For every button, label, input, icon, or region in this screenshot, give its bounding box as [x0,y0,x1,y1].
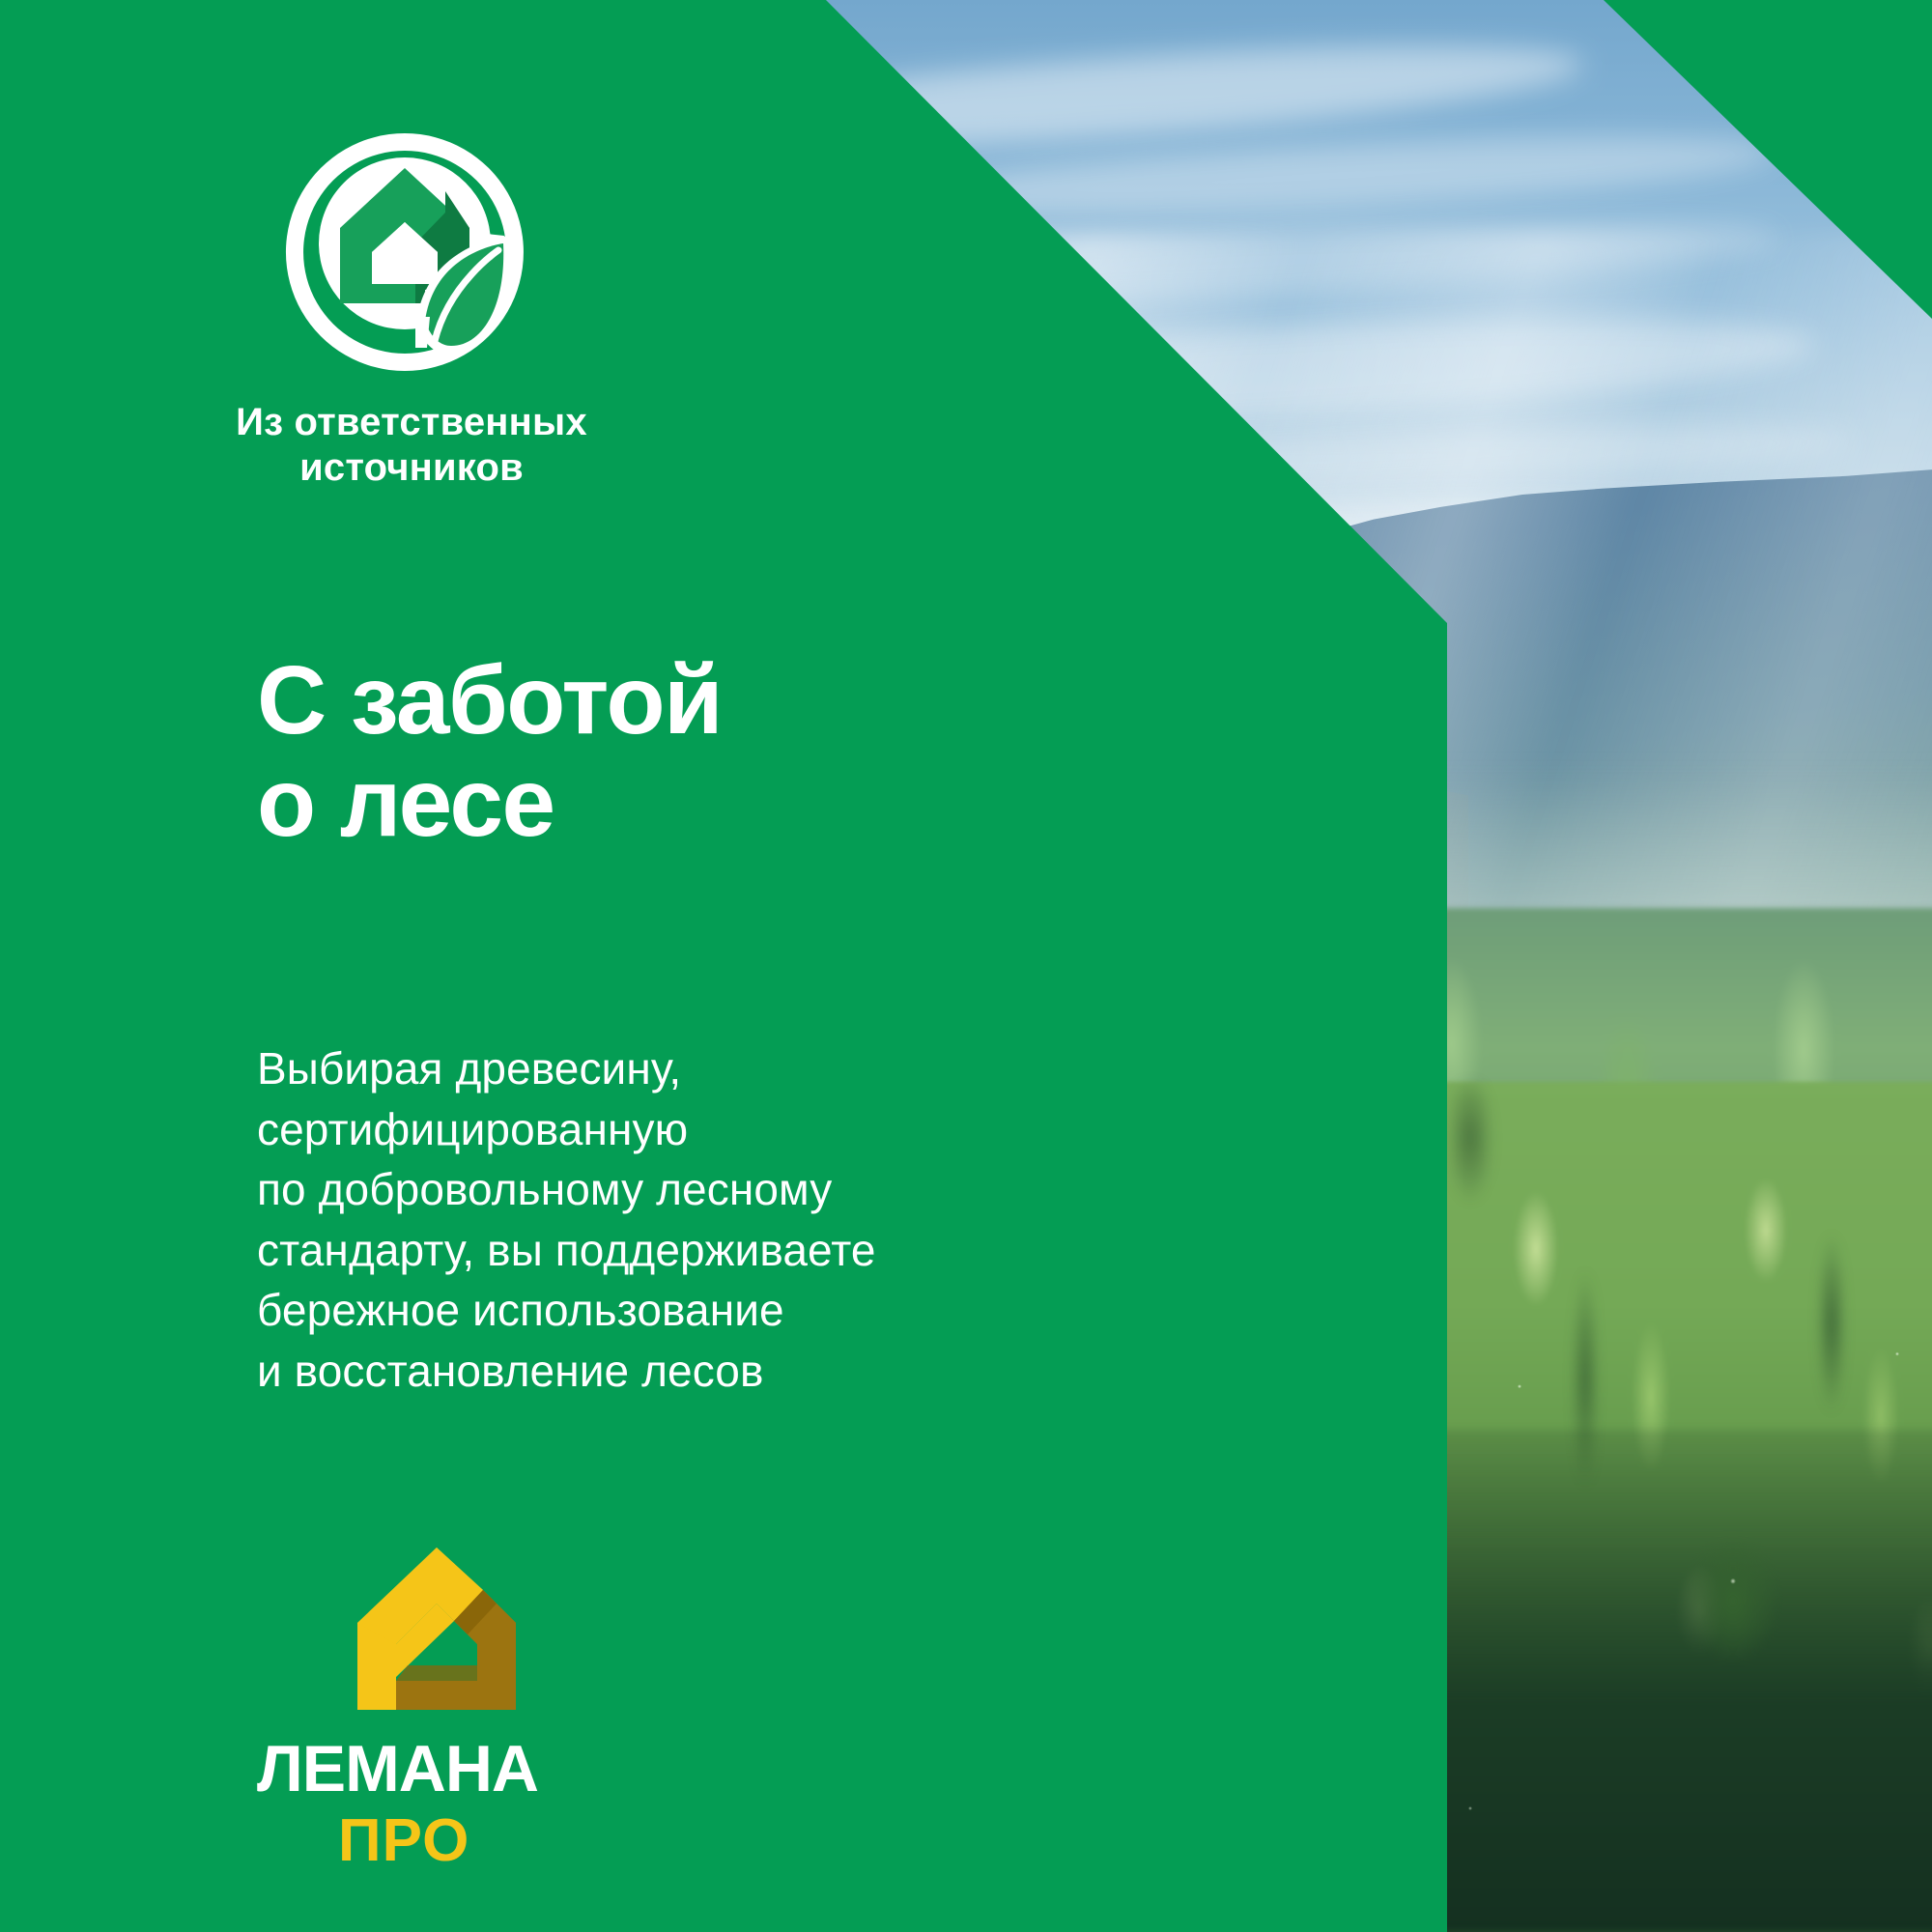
brand-logo: ЛЕМАНА ПРО [257,1548,605,1876]
brand-name-lemana: ЛЕМАНА [257,1732,538,1805]
poster-root: Aerial view of a green forest canopy wit… [0,0,1932,1932]
body-paragraph: Выбирая древесину, сертифицированную по … [257,1038,876,1401]
lemana-pro-house-icon [340,1548,533,1714]
brand-name-pro: ПРО [338,1807,469,1874]
content-layer: Из ответственных источников С заботой о … [0,0,1447,1932]
lemana-pro-wordmark: ЛЕМАНА ПРО [257,1731,585,1876]
responsible-sourcing-mark-icon [280,128,529,377]
certification-caption: Из ответственных источников [228,400,595,491]
certification-badge: Из ответственных источников [257,128,663,491]
page-title: С заботой о лесе [257,649,722,854]
